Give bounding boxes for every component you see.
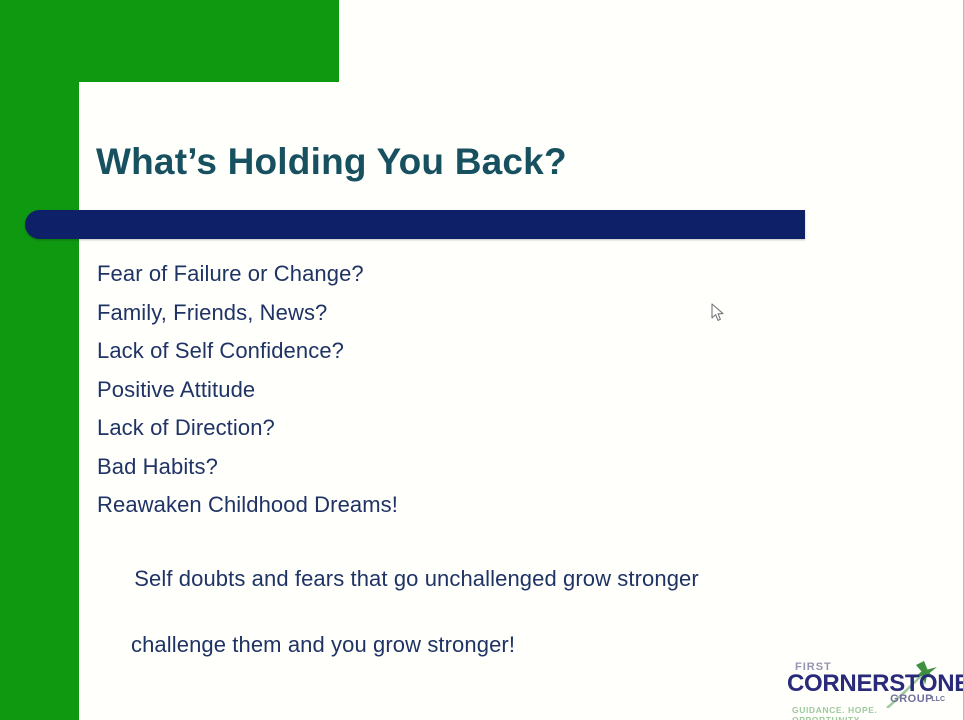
logo-llc-text: LLC: [931, 696, 945, 703]
bullet-list: Fear of Failure or Change? Family, Frien…: [97, 255, 857, 720]
logo-group-text: GROUP: [890, 693, 933, 705]
logo-tagline: GUIDANCE. HOPE. OPPORTUNITY.: [792, 705, 947, 720]
list-item-wrapped: Self doubts and fears that go unchalleng…: [97, 529, 857, 720]
list-item: Lack of Direction?: [97, 409, 857, 448]
rounded-corner-decoration: [79, 82, 125, 128]
list-item: Positive Attitude: [97, 371, 857, 410]
list-item: Reawaken Childhood Dreams!: [97, 486, 857, 525]
company-logo: FIRST CORNERSTONE GROUP LLC GUIDANCE. HO…: [787, 658, 947, 714]
title-underline-bar: [25, 210, 805, 239]
list-item-line-1: Self doubts and fears that go unchalleng…: [134, 566, 699, 591]
list-item-line-2: challenge them and you grow stronger!: [97, 628, 857, 661]
page-title: What’s Holding You Back?: [96, 141, 567, 183]
list-item: Lack of Self Confidence?: [97, 332, 857, 371]
list-item: Fear of Failure or Change?: [97, 255, 857, 294]
green-left-bar-decoration: [0, 0, 79, 720]
list-item: Family, Friends, News?: [97, 294, 857, 333]
list-item: Bad Habits?: [97, 448, 857, 487]
logo-main-text: CORNERSTONE: [787, 670, 964, 698]
presentation-slide: What’s Holding You Back? Fear of Failure…: [0, 0, 964, 720]
